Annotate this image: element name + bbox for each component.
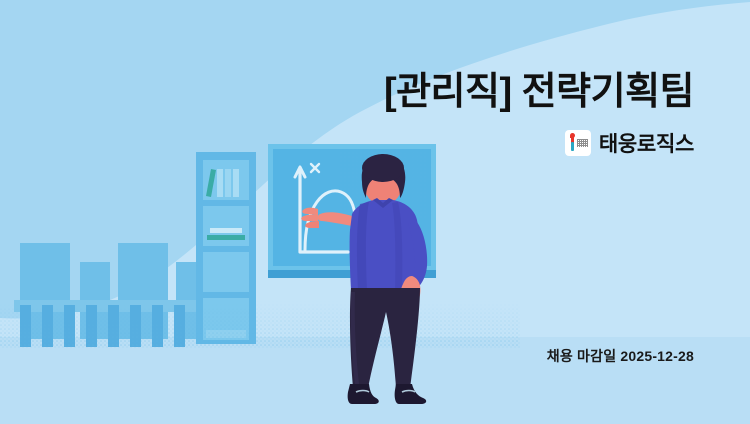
logo-teal-bar bbox=[571, 142, 574, 151]
job-posting-banner: [관리직] 전략기획팀 태웅로직스 채용 마감일 2025-12-28 bbox=[0, 0, 750, 424]
application-deadline: 채용 마감일 2025-12-28 bbox=[547, 346, 694, 366]
job-title: [관리직] 전략기획팀 bbox=[384, 72, 694, 114]
logo-text-mark bbox=[577, 139, 588, 147]
floor-dot-texture bbox=[0, 300, 520, 348]
taewoong-logistics-logo-icon bbox=[565, 130, 591, 156]
book-stack-upper bbox=[210, 228, 242, 233]
company-name: 태웅로직스 bbox=[599, 128, 694, 158]
company-row: 태웅로직스 bbox=[565, 128, 694, 158]
book-stack-lower bbox=[207, 235, 245, 240]
